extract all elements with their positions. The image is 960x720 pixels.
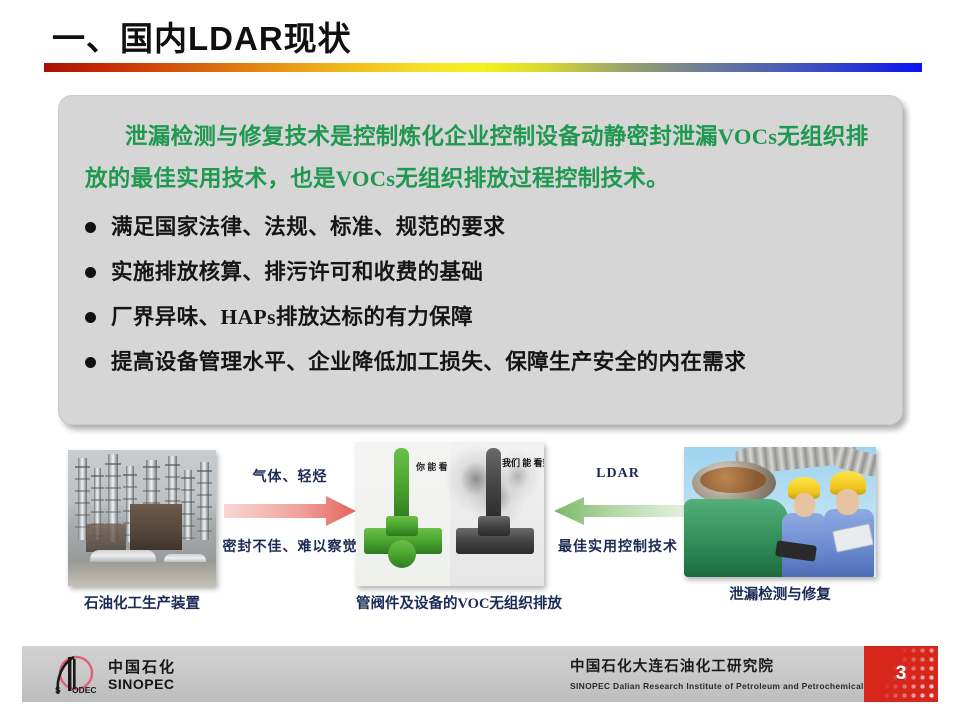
refinery-photo <box>68 450 216 586</box>
list-item: 提高设备管理水平、企业降低加工损失、保障生产安全的内在需求 <box>85 346 885 391</box>
figure-caption: 泄漏检测与修复 <box>684 583 876 604</box>
bullet-dot-icon <box>85 222 96 233</box>
svg-text:ODEC: ODEC <box>72 685 97 695</box>
valve-handwheel <box>388 540 416 568</box>
photo-ground <box>68 562 216 586</box>
structure-shape <box>130 504 182 550</box>
valve-bonnet <box>478 516 510 536</box>
bullet-dot-icon <box>85 267 96 278</box>
valve-bonnet <box>386 516 418 536</box>
arrow-gas-emission: 气体、轻烃 密封不佳、难以察觉 <box>222 450 358 570</box>
arrow-top-label: 气体、轻烃 <box>222 466 358 486</box>
list-item: 实施排放核算、排污许可和收费的基础 <box>85 256 885 301</box>
sinopec-logo: ODEC S 中国石化 SINOPEC <box>52 654 212 696</box>
page-title: 一、国内LDAR现状 <box>52 12 352 60</box>
valves-photo: 你 能 看 到 的 我们 能 看到 <box>356 442 544 586</box>
valve-stem <box>394 448 409 522</box>
structure-shape <box>86 524 126 552</box>
workers-photo <box>684 447 876 577</box>
arrow-bottom-label: 最佳实用控制技术 <box>548 536 688 556</box>
figure-workers: 泄漏检测与修复 <box>684 447 876 577</box>
arrow-ldar-control: LDAR 最佳实用控制技术 <box>548 450 688 570</box>
bullet-label: 满足国家法律、法规、标准、规范的要求 <box>111 211 505 243</box>
organization-block: 中国石化大连石油化工研究院 SINOPEC Dalian Research In… <box>570 655 900 691</box>
sinopec-emblem-icon: ODEC S <box>52 654 98 696</box>
figure-valves: 你 能 看 到 的 我们 能 看到 管阀件及设备的VOC无组织排放 <box>356 442 544 586</box>
logo-label-cn: 中国石化 <box>108 656 176 677</box>
valve-stem <box>486 448 501 522</box>
rust-patch <box>700 467 766 493</box>
footer-bar: ODEC S 中国石化 SINOPEC 中国石化大连石油化工研究院 SINOPE… <box>22 646 938 702</box>
figure-row: 石油化工生产装置 气体、轻烃 密封不佳、难以察觉 <box>0 438 960 613</box>
valve-leaking-half: 我们 能 看到 <box>450 442 544 586</box>
bullet-dot-icon <box>85 357 96 368</box>
svg-text:S: S <box>55 685 61 695</box>
bullet-label: 厂界异味、HAPs排放达标的有力保障 <box>111 301 473 333</box>
page-number: 3 <box>864 663 938 685</box>
figure-refinery: 石油化工生产装置 <box>68 450 216 586</box>
logo-label-en: SINOPEC <box>108 676 175 692</box>
arrow-right-icon <box>222 494 358 528</box>
arrow-bottom-label: 密封不佳、难以察觉 <box>222 536 358 556</box>
arrow-top-label: LDAR <box>548 466 688 482</box>
list-item: 厂界异味、HAPs排放达标的有力保障 <box>85 301 885 346</box>
title-gradient-rule <box>44 63 922 72</box>
arrow-left-icon <box>548 494 688 528</box>
organization-name-cn: 中国石化大连石油化工研究院 <box>570 655 900 676</box>
bullet-list: 满足国家法律、法规、标准、规范的要求 实施排放核算、排污许可和收费的基础 厂界异… <box>85 211 885 391</box>
page-number-badge: 3 <box>864 646 938 702</box>
organization-name-en: SINOPEC Dalian Research Institute of Pet… <box>570 681 900 691</box>
valve-note-right: 我们 能 看到 <box>502 456 544 469</box>
tower-shape <box>200 462 209 540</box>
bullet-dot-icon <box>85 312 96 323</box>
tower-shape <box>184 470 192 540</box>
green-wrap-shape <box>684 499 788 577</box>
bullet-label: 实施排放核算、排污许可和收费的基础 <box>111 256 483 288</box>
bullet-label: 提高设备管理水平、企业降低加工损失、保障生产安全的内在需求 <box>111 346 746 378</box>
content-panel: 泄漏检测与修复技术是控制炼化企业控制设备动静密封泄漏VOCs无组织排放的最佳实用… <box>58 95 903 425</box>
worker-face <box>836 489 859 515</box>
lead-statement: 泄漏检测与修复技术是控制炼化企业控制设备动静密封泄漏VOCs无组织排放的最佳实用… <box>85 116 877 200</box>
slide-root: 一、国内LDAR现状 泄漏检测与修复技术是控制炼化企业控制设备动静密封泄漏VOC… <box>0 0 960 720</box>
list-item: 满足国家法律、法规、标准、规范的要求 <box>85 211 885 256</box>
valve-visible-half: 你 能 看 到 的 <box>356 442 450 586</box>
figure-caption: 管阀件及设备的VOC无组织排放 <box>356 592 544 613</box>
worker-face <box>794 493 815 517</box>
figure-caption: 石油化工生产装置 <box>68 592 216 613</box>
